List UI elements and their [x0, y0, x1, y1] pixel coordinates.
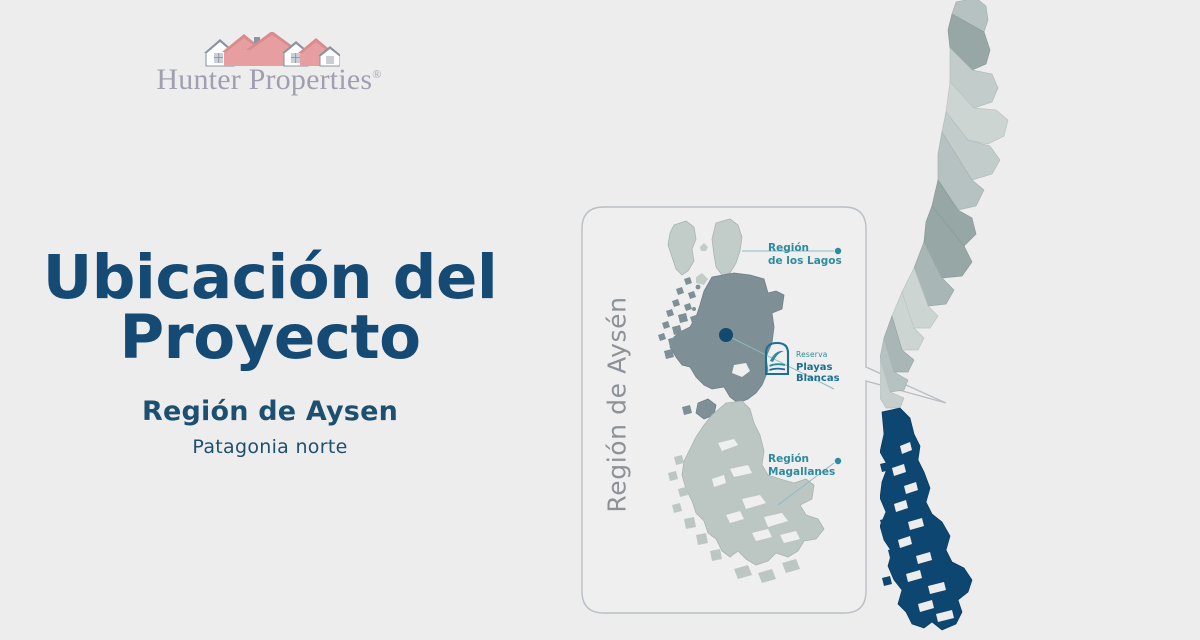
- label-magallanes-line2: Magallanes: [768, 466, 835, 479]
- reserva-logo-text: Reserva Playas Blancas: [796, 343, 840, 385]
- label-magallanes-line1: Región: [768, 453, 835, 466]
- registered-trademark-icon: ®: [372, 67, 381, 81]
- map-region-magallanes: [668, 401, 824, 583]
- page-title: Ubicación del Proyecto: [0, 248, 540, 368]
- chile-country-map: [880, 0, 1070, 640]
- chile-northern-regions: [880, 0, 1008, 408]
- label-region-los-lagos: Región de los Lagos: [768, 242, 842, 269]
- slide-root: Hunter Properties® Ubicación del Proyect…: [0, 0, 1200, 640]
- label-los-lagos-line1: Región: [768, 242, 842, 255]
- brand-name-text: Hunter Properties: [156, 63, 372, 96]
- label-los-lagos-line2: de los Lagos: [768, 255, 842, 268]
- project-location-marker[interactable]: [719, 328, 733, 342]
- reserva-text-line3: Blancas: [796, 373, 840, 385]
- subtitle-region: Región de Aysen: [0, 396, 540, 427]
- reserva-text-line2: Playas: [796, 362, 840, 374]
- title-line-2: Proyecto: [0, 308, 540, 368]
- pin-dot-magallanes: [835, 458, 841, 464]
- callout-vertical-label: Región de Aysén: [603, 290, 632, 520]
- brand-wordmark: Hunter Properties®: [138, 63, 400, 97]
- subtitle-area: Patagonia norte: [0, 436, 540, 458]
- brand-logo: Hunter Properties®: [138, 32, 400, 104]
- reserva-playas-blancas-logo: Reserva Playas Blancas: [763, 340, 855, 382]
- headline-block: Ubicación del Proyecto Región de Aysen P…: [0, 248, 540, 458]
- reserva-text-line1: Reserva: [796, 350, 828, 359]
- reserva-logo-mark-icon: [763, 340, 793, 378]
- chile-highlighted-region: [880, 408, 972, 630]
- label-region-magallanes: Región Magallanes: [768, 453, 835, 480]
